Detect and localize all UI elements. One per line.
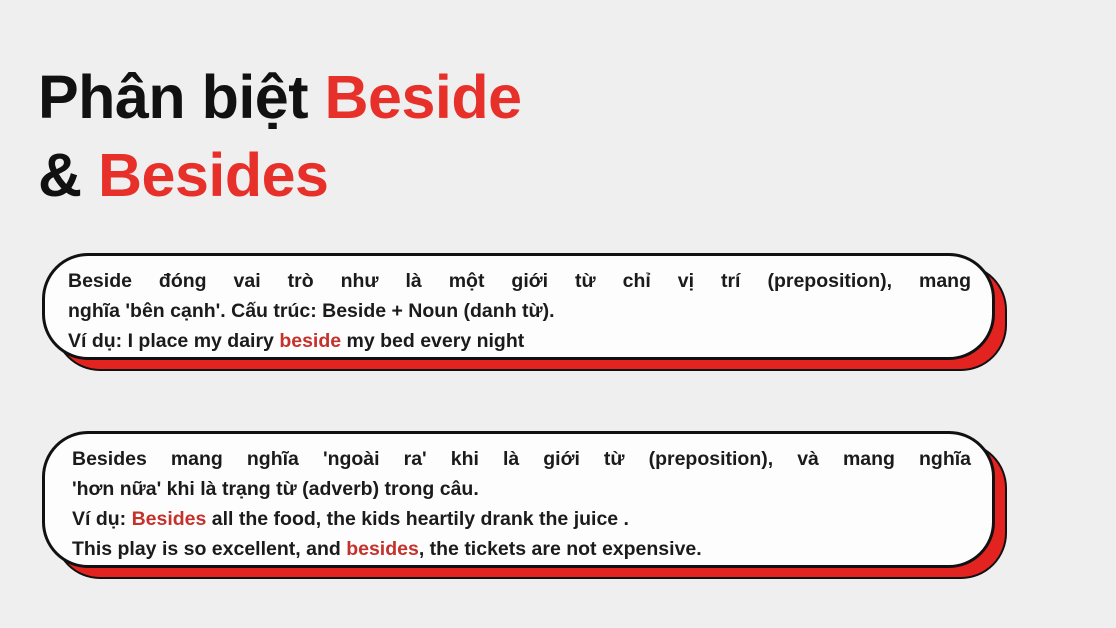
card-text-line: nghĩa 'bên cạnh'. Cấu trúc: Beside + Nou…	[68, 296, 971, 326]
text-run: nghĩa 'bên cạnh'. Cấu trúc: Beside + Nou…	[68, 300, 555, 322]
title-line-1: Phân biệt Beside	[38, 58, 938, 136]
title-line-1-plain: Phân biệt	[38, 63, 324, 131]
text-run: Ví dụ: I place my dairy	[68, 330, 279, 352]
title-line-2-accent: Besides	[98, 141, 328, 209]
text-run: Ví dụ:	[72, 508, 132, 530]
text-run: , the tickets are not expensive.	[419, 538, 702, 560]
definition-card-besides: Besides mang nghĩa 'ngoài ra' khi là giớ…	[42, 431, 995, 568]
slide-canvas: Phân biệt Beside & Besides Beside đóng v…	[0, 0, 1116, 628]
text-run: my bed every night	[341, 330, 524, 352]
card-text-line: Besides mang nghĩa 'ngoài ra' khi là giớ…	[72, 444, 971, 474]
text-run: Beside đóng vai trò như là một giới từ c…	[68, 270, 971, 292]
text-run: This play is so excellent, and	[72, 538, 346, 560]
card-besides-text: Besides mang nghĩa 'ngoài ra' khi là giớ…	[42, 431, 995, 564]
title-line-2-plain: &	[38, 141, 98, 209]
card-text-line: Ví dụ: Besides all the food, the kids he…	[72, 504, 971, 534]
page-title: Phân biệt Beside & Besides	[38, 58, 938, 214]
text-run: 'hơn nữa' khi là trạng từ (adverb) trong…	[72, 478, 479, 500]
card-text-line: Beside đóng vai trò như là một giới từ c…	[68, 266, 971, 296]
text-run: Besides mang nghĩa 'ngoài ra' khi là giớ…	[72, 448, 971, 470]
card-text-line: 'hơn nữa' khi là trạng từ (adverb) trong…	[72, 474, 971, 504]
definition-card-beside: Beside đóng vai trò như là một giới từ c…	[42, 253, 995, 360]
card-text-line: This play is so excellent, and besides, …	[72, 534, 971, 564]
highlighted-keyword: besides	[346, 538, 419, 560]
text-run: all the food, the kids heartily drank th…	[206, 508, 629, 530]
card-text-line: Ví dụ: I place my dairy beside my bed ev…	[68, 326, 971, 356]
card-beside-text: Beside đóng vai trò như là một giới từ c…	[42, 253, 995, 356]
highlighted-keyword: Besides	[132, 508, 207, 530]
title-line-2: & Besides	[38, 136, 938, 214]
highlighted-keyword: beside	[279, 330, 341, 352]
title-line-1-accent: Beside	[324, 63, 521, 131]
